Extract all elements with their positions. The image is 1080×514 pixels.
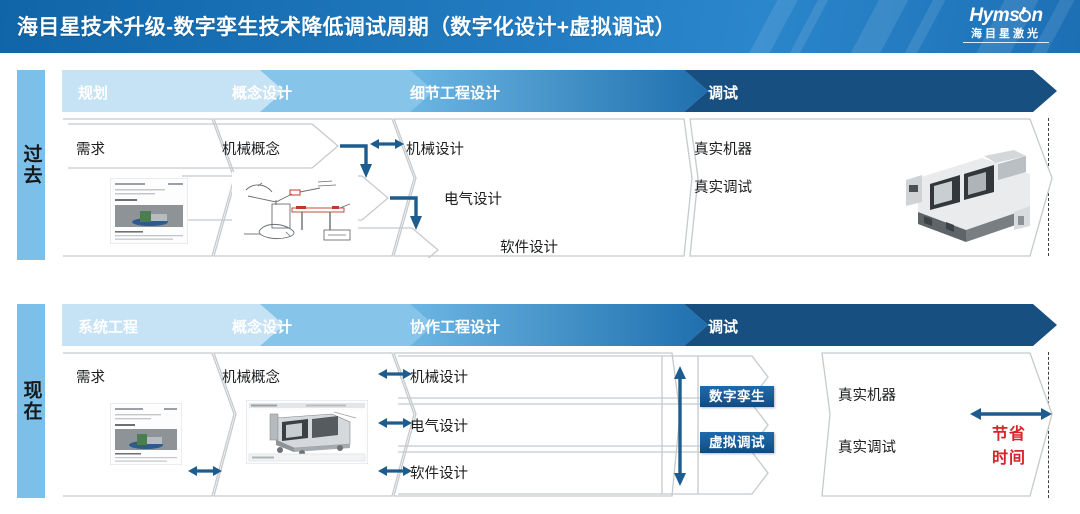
side-label-present-text: 现在 <box>18 380 45 422</box>
flow1-node-sw-design: 软件设计 <box>500 236 558 257</box>
flow2-stage-shape-3 <box>684 304 1057 346</box>
flow1-node-mech-design: 机械设计 <box>406 138 464 159</box>
side-label-past: 过去 <box>17 70 45 260</box>
slide-header: 海目星技术升级-数字孪生技术降低调试周期（数字化设计+虚拟调试） Hymsn 海… <box>0 0 1080 53</box>
logo-wordmark: Hymsn <box>946 5 1066 27</box>
flow1-stage-label-0: 规划 <box>78 82 108 103</box>
flow2-node-mech-concept: 机械概念 <box>222 366 280 387</box>
savings-label-line2: 时间 <box>978 448 1040 469</box>
requirement-document-thumbnail <box>110 403 182 465</box>
flow1-node-mech-concept: 机械概念 <box>222 138 280 159</box>
hand-sketch-thumbnail <box>232 172 358 244</box>
flow2-stage-label-0: 系统工程 <box>78 316 138 337</box>
bidirectional-arrow-icon <box>188 463 222 479</box>
bidirectional-arrow-icon <box>378 463 412 479</box>
flow1-stage-label-1: 概念设计 <box>232 82 292 103</box>
flow2-stage-label-1: 概念设计 <box>232 316 292 337</box>
slide-root: 海目星技术升级-数字孪生技术降低调试周期（数字化设计+虚拟调试） Hymsn 海… <box>0 0 1080 514</box>
flow1-node-elec-design: 电气设计 <box>444 188 502 209</box>
savings-bidirectional-arrow-icon <box>970 406 1052 422</box>
flow1-stage-shape-3 <box>684 70 1057 112</box>
flow1-stage-label-2: 细节工程设计 <box>410 82 500 103</box>
flow2-node-elec-design: 电气设计 <box>410 415 468 436</box>
flow2-node-sw-design: 软件设计 <box>410 462 468 483</box>
cnc-machine-photo <box>890 150 1040 248</box>
logo-wordmark-tail: n <box>1031 5 1042 26</box>
flow2-node-requirement: 需求 <box>76 366 105 387</box>
logo-o-icon <box>1019 10 1031 22</box>
bidirectional-arrow-icon <box>370 136 404 152</box>
flow2-stage-label-3: 调试 <box>708 316 738 337</box>
bidirectional-arrow-icon <box>378 415 412 431</box>
badge-digital-twin[interactable]: 数字孪生 <box>700 386 774 407</box>
bidirectional-arrow-icon <box>378 366 412 382</box>
savings-label-line1: 节省 <box>978 424 1040 445</box>
flow1-node-real-commission: 真实调试 <box>694 176 752 197</box>
flow2-stage-label-2: 协作工程设计 <box>410 316 500 337</box>
flow1-stage-band <box>62 70 1057 114</box>
machine-cad-thumbnail <box>246 400 368 464</box>
requirement-document-thumbnail <box>110 178 188 244</box>
badge-virtual-commissioning[interactable]: 虚拟调试 <box>700 432 774 453</box>
flow2-stage-band <box>62 304 1057 348</box>
side-label-present: 现在 <box>17 304 45 498</box>
flow1-stage-label-3: 调试 <box>708 82 738 103</box>
logo-wordmark-text: Hyms <box>969 5 1019 26</box>
flow2-node-real-commission: 真实调试 <box>838 436 896 457</box>
logo-chinese-name: 海目星激光 <box>946 27 1066 41</box>
flow2-node-real-machine: 真实机器 <box>838 384 896 405</box>
logo-underline <box>963 42 1049 43</box>
company-logo: Hymsn 海目星激光 <box>946 5 1066 49</box>
flow1-node-real-machine: 真实机器 <box>694 138 752 159</box>
page-title: 海目星技术升级-数字孪生技术降低调试周期（数字化设计+虚拟调试） <box>17 11 676 41</box>
flow1-node-requirement: 需求 <box>76 138 105 159</box>
flow2-node-mech-design: 机械设计 <box>410 366 468 387</box>
side-label-past-text: 过去 <box>18 144 45 186</box>
